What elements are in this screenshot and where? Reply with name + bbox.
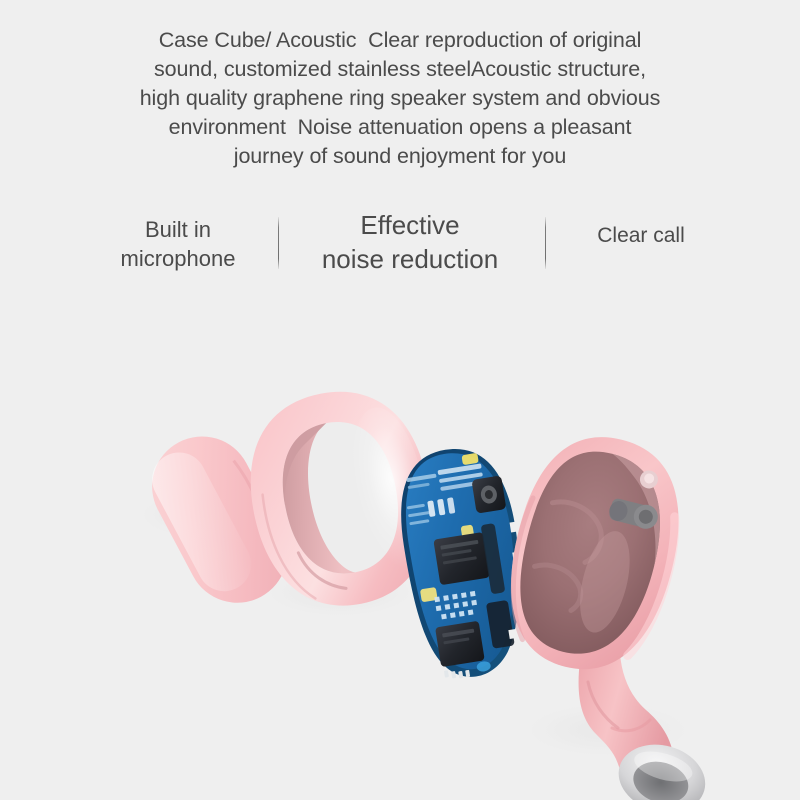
part-earbud-shell [489, 421, 713, 800]
feature-effective-noise-reduction: Effective noise reduction [292, 209, 528, 277]
exploded-earbud-svg [0, 330, 800, 800]
exploded-earbud-diagram [0, 330, 800, 800]
feature-row: Built in microphone Effective noise redu… [0, 205, 800, 295]
product-description: Case Cube/ Acoustic Clear reproduction o… [60, 26, 740, 171]
product-feature-image: Case Cube/ Acoustic Clear reproduction o… [0, 0, 800, 800]
feature-divider-1 [278, 217, 279, 269]
feature-clear-call: Clear call [566, 222, 716, 250]
feature-built-in-microphone: Built in microphone [98, 215, 258, 273]
feature-divider-2 [545, 217, 546, 269]
